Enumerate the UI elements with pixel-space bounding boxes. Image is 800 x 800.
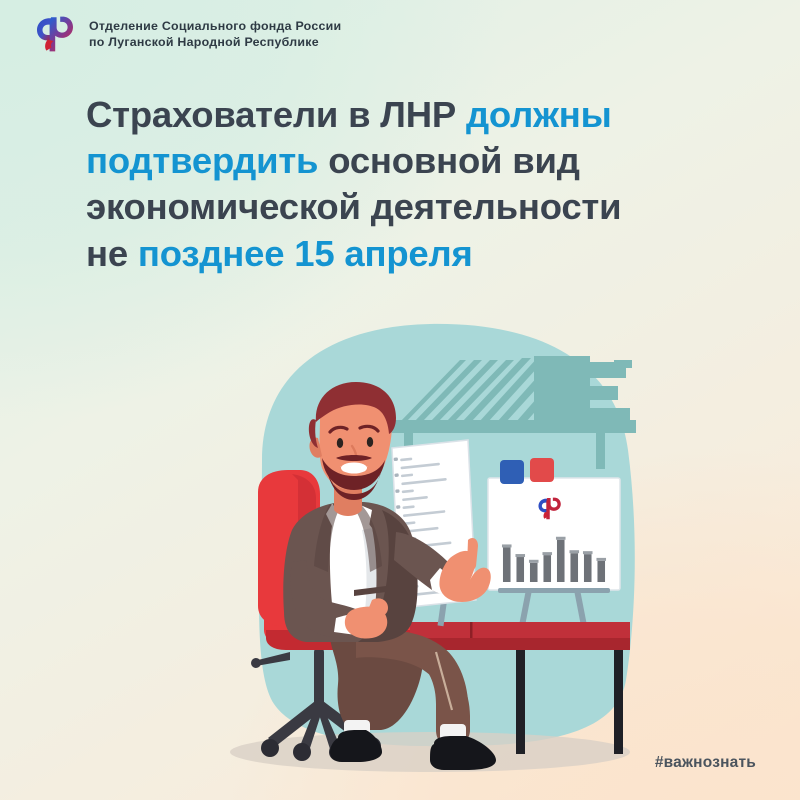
organization-name: Отделение Социального фонда России по Лу… [89, 18, 341, 51]
document-bullet [395, 489, 400, 493]
poster-canvas: Отделение Социального фонда России по Лу… [0, 0, 800, 800]
document-bullet [394, 473, 399, 477]
document-bullet [394, 457, 399, 461]
eye-left [337, 438, 343, 448]
chart-bar-cap [515, 554, 525, 557]
desk-drawer-split [470, 622, 473, 638]
headline-line-2: подтвердить основной вид [86, 138, 776, 184]
headline-line-3: экономической деятельности [86, 184, 776, 230]
headline-line-4-accent: позднее 15 апреля [138, 233, 473, 274]
sfr-logo-icon [33, 14, 77, 54]
headline-line-4-plain: не [86, 233, 138, 274]
desk-leg-front [516, 650, 525, 754]
sticky-note-blue [500, 460, 524, 484]
chart-bar [530, 563, 538, 582]
chart-bar-cap [502, 544, 512, 547]
chart-bar [597, 561, 605, 582]
whiteboard-tray [498, 588, 610, 593]
illustration [0, 300, 800, 800]
organization-header: Отделение Социального фонда России по Лу… [33, 14, 341, 54]
hashtag: #важнознать [655, 754, 756, 772]
org-line-1: Отделение Социального фонда России [89, 18, 341, 34]
chart-bar [557, 540, 565, 582]
desk-leg-back [614, 650, 623, 754]
mouth-open [341, 463, 367, 474]
chart-bar [570, 553, 578, 582]
chart-bar [503, 547, 511, 582]
chart-bar [543, 555, 551, 582]
headline-line-3-plain: экономической деятельности [86, 186, 621, 227]
headline-line-2-plain: основной вид [318, 140, 579, 181]
headline-line-2-accent: подтвердить [86, 140, 318, 181]
eye-right [367, 437, 373, 447]
headline-line-4: не позднее 15 апреля [86, 231, 776, 277]
chart-bar-cap [583, 551, 593, 554]
chart-bar-cap [569, 550, 579, 553]
headline-line-1-accent: должны [466, 94, 612, 135]
chart-bar-cap [529, 560, 539, 563]
chart-bar [516, 557, 524, 582]
org-line-2: по Луганской Народной Республике [89, 34, 341, 50]
chart-bar [584, 554, 592, 582]
chart-bar-cap [596, 558, 606, 561]
sticky-note-red [530, 458, 554, 482]
chart-bar-cap [556, 537, 566, 540]
chart-bar-cap [542, 552, 552, 555]
floor-shadow [230, 732, 630, 772]
document-bullet [396, 505, 401, 509]
headline-line-1: Страхователи в ЛНР должны [86, 92, 776, 138]
headline-line-1-plain: Страхователи в ЛНР [86, 94, 466, 135]
headline: Страхователи в ЛНР должны подтвердить ос… [86, 92, 776, 277]
